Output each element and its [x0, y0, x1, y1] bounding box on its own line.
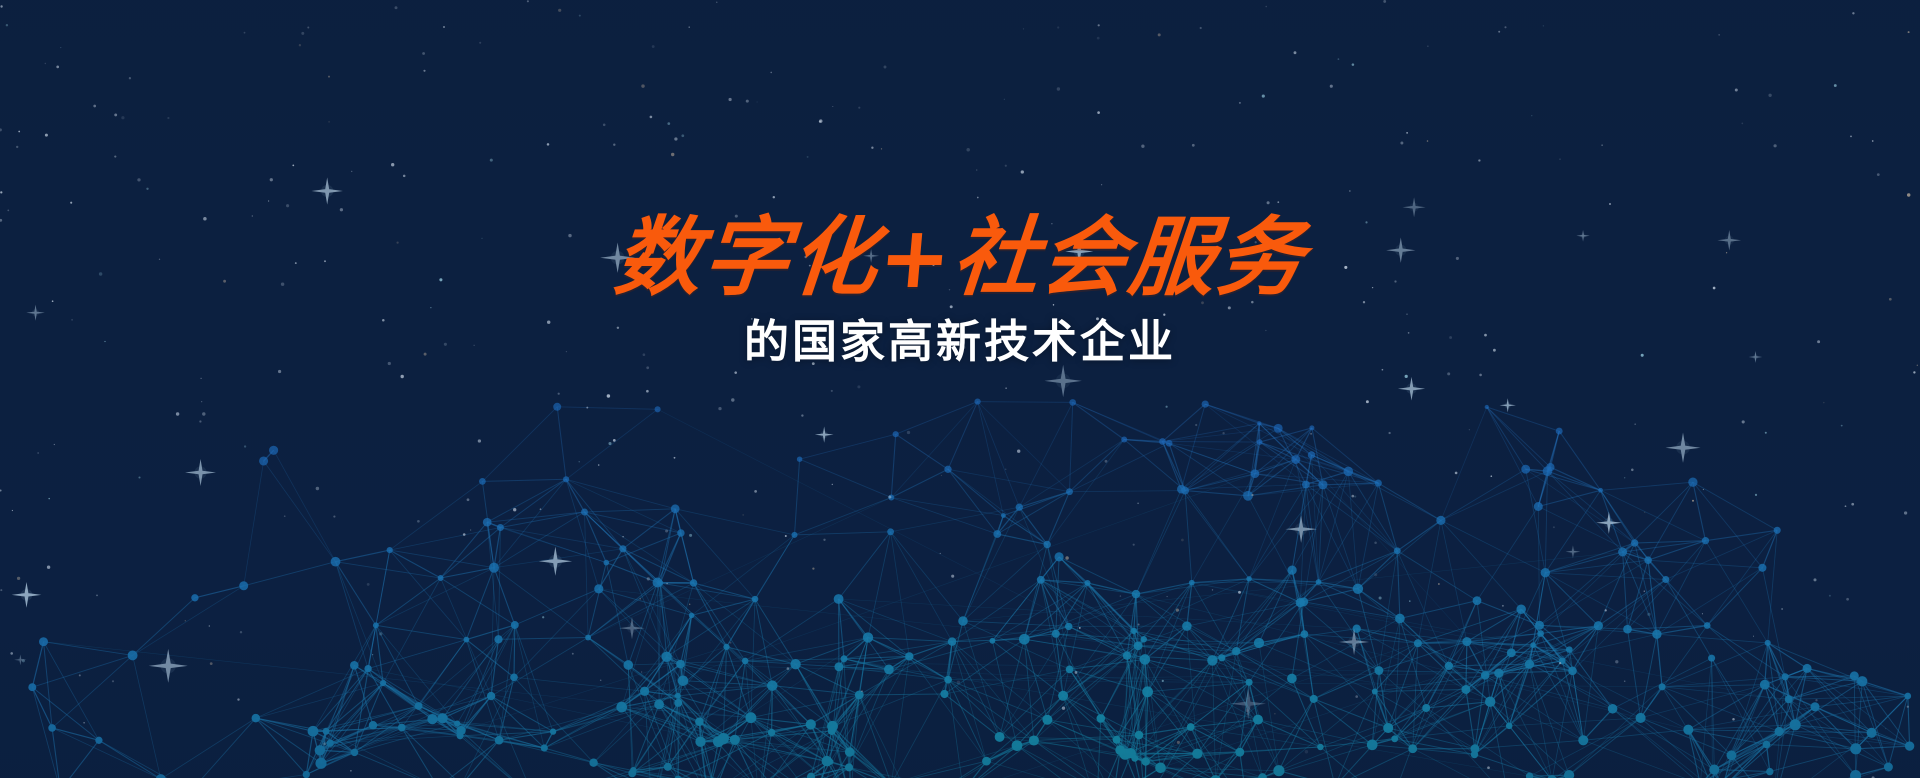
- background-vignette: [0, 0, 1920, 778]
- hero-banner: 数字化+社会服务 的国家高新技术企业: [0, 0, 1920, 778]
